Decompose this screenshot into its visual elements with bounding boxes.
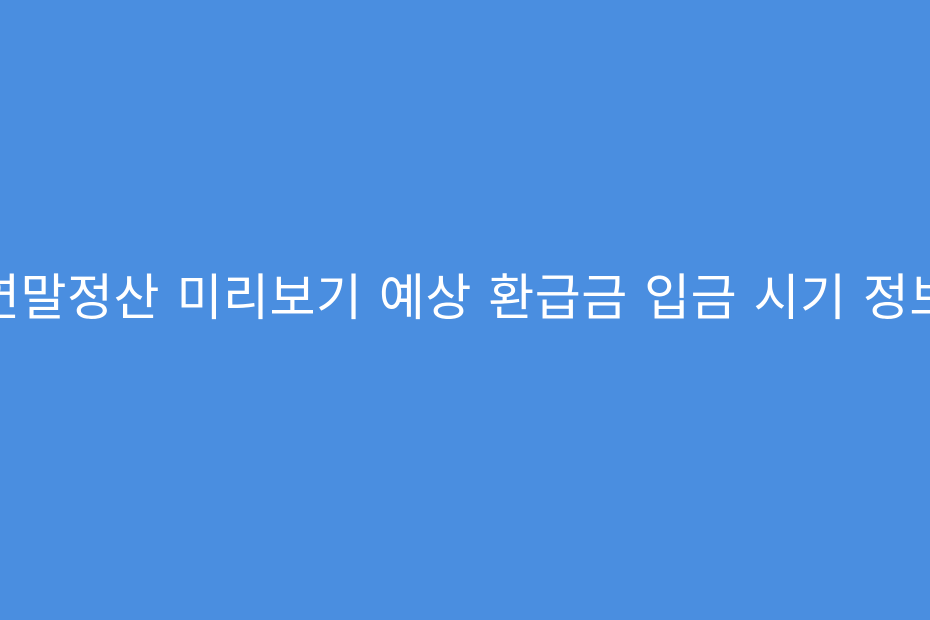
banner-headline: 연말정산 미리보기 예상 환급금 입금 시기 정보	[0, 273, 930, 323]
headline-band: 연말정산 미리보기 예상 환급금 입금 시기 정보	[0, 0, 930, 620]
thumbnail-banner: 연말정산 미리보기 예상 환급금 입금 시기 정보	[0, 0, 930, 620]
